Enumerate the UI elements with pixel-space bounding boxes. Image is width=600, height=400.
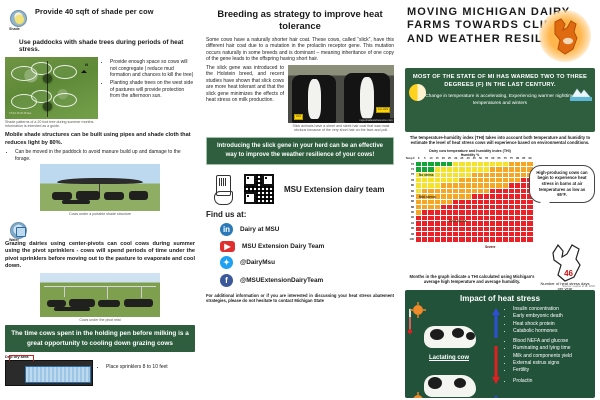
arrow-up-icon: [492, 308, 500, 338]
col2-title: Breeding as strategy to improve heat tol…: [210, 8, 390, 32]
lactating-cow-image: [420, 318, 482, 354]
shade-icon-label: Shade: [9, 27, 20, 31]
social-label: @MSUExtensionDairyTeam: [240, 277, 323, 284]
list-item: Prolactin: [513, 378, 590, 385]
portable-shade-caption: Cows under a portable shade structure: [5, 212, 195, 216]
heatmap-cell: [527, 237, 533, 242]
column-climate: MOVING MICHIGAN DAIRY FARMS TOWARDS CLIM…: [400, 0, 600, 400]
col2-footer-text: For additional information or if you are…: [206, 293, 394, 304]
water-icon: [10, 222, 27, 239]
holding-pen-banner: The time cows spent in the holding pen b…: [5, 325, 195, 352]
pivot-photo-caption: Cows under the pivot mist: [5, 318, 195, 322]
shade-pattern-photo: N 0 5 10 15 20 25 feet: [5, 57, 98, 119]
col1-title: Provide 40 sqft of shade per cow: [35, 7, 195, 16]
list-item: Can be moved in the paddock to avoid man…: [15, 149, 195, 162]
photo-tag-slick: slick: [294, 114, 303, 119]
shade-photo-and-bullets: N 0 5 10 15 20 25 feet Shade patterns of…: [5, 57, 195, 129]
list-item: Insulin concentration: [513, 306, 590, 313]
shade-icon-block: Shade Provide 40 sqft of shade per cow: [5, 7, 195, 32]
drip-bullets: Place sprinklers 8 to 10 feet: [98, 364, 195, 372]
warming-header: MOST OF THE STATE OF MI HAS WARMED TWO T…: [411, 73, 589, 90]
impact-up-list: Insulin concentration Early embryonic de…: [505, 306, 590, 335]
slick-paragraph-2: The slick gene was introduced to the Hol…: [206, 65, 284, 133]
social-label: MSU Extension Dairy Team: [242, 243, 324, 250]
slick-photo-caption: Slick animals have a sheet and sleek hai…: [288, 124, 394, 133]
qr-code[interactable]: [244, 174, 274, 204]
michigan-map-icon: [549, 16, 583, 56]
list-item: Place sprinklers 8 to 10 feet: [106, 364, 195, 371]
shade-icon: [10, 10, 27, 27]
zone-label-severe: Severe: [485, 245, 495, 249]
impact-title: Impact of heat stress: [410, 294, 590, 303]
photo-source: mga.shadeworkssource.com: [358, 118, 394, 122]
list-item: Catabolic hormones: [513, 328, 590, 335]
list-item: Fertility: [513, 367, 590, 374]
sun-icon: [408, 302, 428, 318]
photo-scale: 0 5 10 15 20 25 feet: [9, 112, 31, 115]
water-icon-label: Water: [9, 238, 19, 242]
social-link-linkedin[interactable]: in Dairy at MSU: [220, 223, 394, 236]
list-item: Provide enough space so cows will not co…: [110, 59, 195, 79]
photo-tag-nonslick: non-slick: [376, 107, 390, 112]
qr-row: MSU Extension dairy team: [212, 174, 394, 204]
warming-callout-box: MOST OF THE STATE OF MI HAS WARMED TWO T…: [405, 68, 595, 132]
social-label: Dairy at MSU: [240, 226, 279, 233]
social-label: @DairyMsu: [240, 259, 275, 266]
linkedin-icon: in: [220, 223, 233, 236]
col1-subtitle: Use paddocks with shade trees during per…: [19, 39, 195, 53]
arrow-up-icon-2: [492, 395, 500, 398]
arrow-down-icon: [492, 346, 500, 384]
thi-intro-text: The temperature-humidity index (THI) tak…: [407, 135, 593, 146]
sun-icon-2: [408, 392, 428, 398]
phone-scan-icon: [212, 174, 234, 204]
list-item: Milk and components yield: [513, 353, 590, 360]
list-item: Blood NEFA and glucose: [513, 338, 590, 345]
shade-photo-caption: Shade patterns of a 20 foot tree during …: [5, 120, 98, 129]
twitter-icon: ✦: [220, 256, 233, 269]
water-icon-block: Water: [5, 219, 195, 241]
impact-down-list: Blood NEFA and glucose Ruminating and ly…: [505, 338, 590, 374]
pivot-photo: [40, 273, 160, 317]
list-item: Early embryonic death: [513, 313, 590, 320]
sun-moon-icon: [409, 84, 426, 101]
second-cow-image: [420, 367, 482, 398]
qr-label: MSU Extension dairy team: [284, 185, 384, 194]
column-breeding: Breeding as strategy to improve heat tol…: [200, 0, 400, 400]
mobile-shade-bullets: Can be moved in the paddock to avoid man…: [7, 149, 195, 162]
heat-stress-callout: High-producing cows can begin to experie…: [529, 165, 595, 203]
zone-label-mild: Mild stress: [419, 195, 436, 199]
impact-panel: Impact of heat stress: [405, 290, 595, 398]
drip-diagram: [5, 360, 93, 386]
impact-second-animal-list: Prolactin: [505, 378, 590, 385]
list-item: Ruminating and lying time: [513, 345, 590, 352]
drip-diagram-row: Place sprinklers 8 to 10 feet: [5, 360, 195, 386]
zone-label-no-stress: No stress: [419, 173, 434, 177]
thi-chart: Dairy cow temperature and humidity index…: [405, 149, 595, 273]
iceberg-icon: [570, 86, 592, 102]
poster-root: Shade Provide 40 sqft of shade per cow U…: [0, 0, 600, 400]
shade-bullet-list: Provide enough space so cows will not co…: [102, 59, 195, 127]
social-link-youtube[interactable]: ▶ MSU Extension Dairy Team: [220, 241, 394, 252]
column-shade-and-water: Shade Provide 40 sqft of shade per cow U…: [0, 0, 200, 400]
lactating-cow-label: Lactating cow: [410, 355, 488, 361]
y-tick: 100: [405, 237, 416, 242]
slick-photo-row: The slick gene was introduced to the Hol…: [206, 65, 394, 133]
table-row: 100: [405, 237, 533, 242]
list-item: Heat shock protein: [513, 321, 590, 328]
slick-cows-photo: slick non-slick mga.shadeworkssource.com: [288, 65, 394, 123]
thi-footnote: Months in the graph indicate a THI calcu…: [405, 274, 539, 285]
slick-gene-banner: Introducing the slick gene in your herd …: [206, 137, 394, 165]
zone-label-heat: Heat Stress: [449, 219, 467, 223]
heat-stress-days-number: 46: [564, 269, 573, 278]
thi-grid: Temp F 0 5 10 15 20 25 30 35 40 45 50 55…: [405, 157, 534, 243]
warming-sub: Change in temperature is accelerating, E…: [411, 93, 589, 107]
social-link-facebook[interactable]: f @MSUExtensionDairyTeam: [220, 274, 394, 287]
pivot-paragraph: Grazing dairies using center-pivots can …: [5, 241, 195, 271]
list-item: Planting shade trees on the west side of…: [110, 80, 195, 100]
youtube-icon: ▶: [220, 241, 235, 252]
slick-paragraph-1: Some cows have a naturally shorter hair …: [206, 37, 394, 63]
facebook-icon: f: [220, 274, 233, 287]
mobile-shade-paragraph: Mobile shade structures can be built usi…: [5, 132, 195, 147]
social-link-twitter[interactable]: ✦ @DairyMsu: [220, 256, 394, 269]
find-us-heading: Find us at:: [206, 210, 394, 219]
list-item: External estrus signs: [513, 360, 590, 367]
portable-shade-photo: [40, 164, 160, 211]
